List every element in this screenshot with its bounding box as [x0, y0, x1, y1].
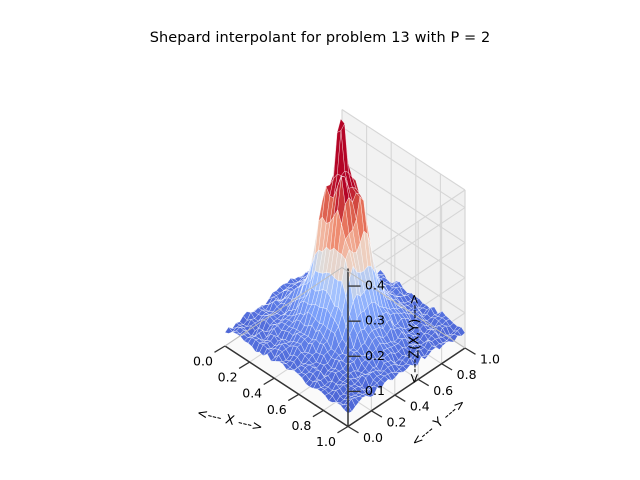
y-tick-label: 0.2 [386, 414, 406, 429]
y-tick-mark [442, 364, 453, 370]
z-axis-title: <---Z(X,Y)---> [408, 294, 423, 384]
x-tick-label: 1.0 [316, 434, 336, 449]
x-tick-label: 0.4 [242, 386, 262, 401]
x-tick-mark [264, 378, 275, 384]
y-tick-mark [465, 348, 476, 354]
z-tick-label: 0.2 [365, 348, 385, 363]
x-tick-label: 0.2 [218, 370, 238, 385]
x-tick-label: 0.8 [291, 418, 311, 433]
x-tick-mark [288, 394, 299, 400]
y-tick-label: 0.6 [433, 383, 453, 398]
y-tick-mark [348, 427, 359, 433]
y-tick-label: 1.0 [480, 352, 500, 367]
surface-plot-axes: 0.00.20.40.60.81.00.00.20.40.60.81.00.10… [0, 0, 640, 480]
y-tick-mark [395, 395, 406, 401]
x-tick-mark [313, 410, 324, 416]
y-tick-label: 0.0 [363, 430, 383, 445]
z-tick-label: 0.3 [365, 313, 385, 328]
y-tick-label: 0.8 [457, 367, 477, 382]
z-tick-label: 0.1 [365, 383, 385, 398]
x-tick-label: 0.0 [193, 354, 213, 369]
x-axis-title: <--- X ---> [195, 406, 264, 436]
x-tick-label: 0.6 [267, 402, 287, 417]
z-tick-label: 0.4 [365, 278, 385, 293]
y-tick-mark [371, 411, 382, 417]
y-tick-label: 0.4 [410, 399, 430, 414]
x-tick-mark [239, 362, 250, 368]
matplotlib-figure: Shepard interpolant for problem 13 with … [0, 0, 640, 480]
x-tick-mark [215, 346, 226, 352]
x-tick-mark [338, 427, 349, 433]
